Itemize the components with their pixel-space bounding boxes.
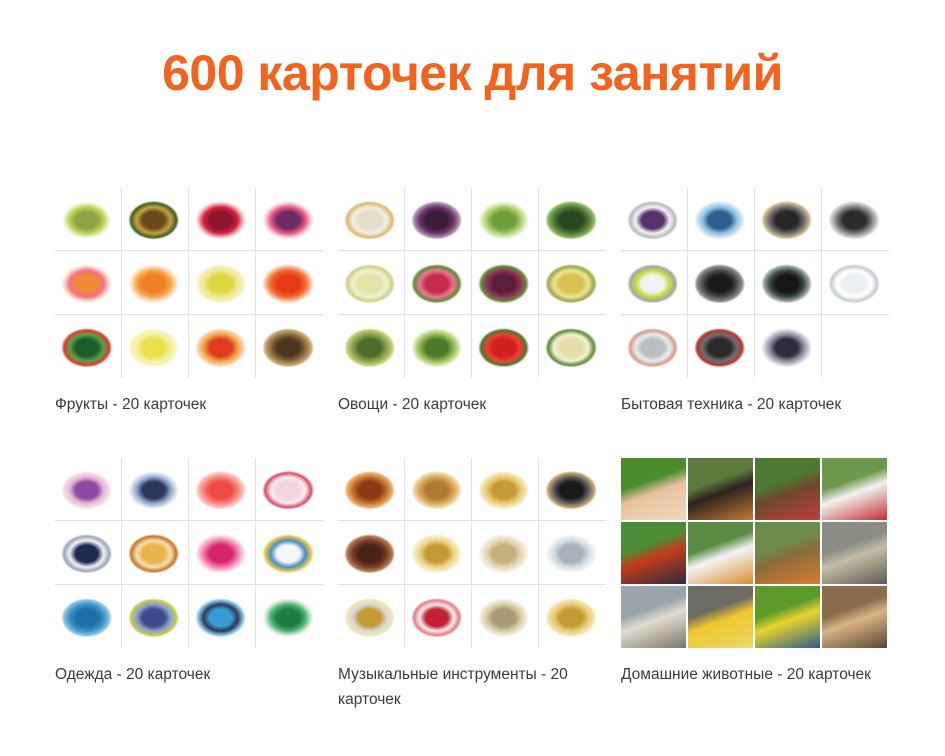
thumb-toaster xyxy=(822,315,889,378)
card-thumb[interactable] xyxy=(338,251,405,314)
thumb-tangerine xyxy=(122,251,188,313)
card-thumb[interactable] xyxy=(256,521,323,584)
card-thumb[interactable] xyxy=(822,188,889,251)
thumb-pomegranate xyxy=(189,188,255,250)
thumb-figs xyxy=(256,188,323,250)
card-thumb[interactable] xyxy=(405,188,472,251)
thumb-green-beans xyxy=(405,315,471,378)
thumb-beet xyxy=(472,251,538,313)
thumb-rabbit xyxy=(822,522,887,584)
thumb-shirt xyxy=(256,585,323,648)
card-thumb[interactable] xyxy=(338,458,405,521)
category-caption-fruits: Фрукты - 20 карточек xyxy=(55,392,305,417)
thumb-peas xyxy=(472,188,538,250)
category-caption-pets: Домашние животные - 20 карточек xyxy=(621,662,879,687)
card-thumb[interactable] xyxy=(256,315,323,378)
thumb-jacket xyxy=(189,521,255,583)
thumb-pineapple xyxy=(122,188,188,250)
thumb-electric-kettle xyxy=(688,188,754,250)
thumbnail-board-fruits xyxy=(55,188,323,378)
thumb-persimmon xyxy=(256,251,323,313)
thumb-sheep xyxy=(621,586,686,648)
thumb-watermelon xyxy=(55,315,121,378)
card-thumb[interactable] xyxy=(621,188,688,251)
thumb-radish xyxy=(405,251,471,313)
card-thumb[interactable] xyxy=(122,188,189,251)
card-thumb[interactable] xyxy=(405,458,472,521)
thumb-dishwasher xyxy=(621,315,687,378)
page-title: 600 карточек для занятий xyxy=(0,44,945,102)
thumb-rooster xyxy=(621,522,686,584)
thumb-kiwi xyxy=(55,188,121,250)
card-thumb[interactable] xyxy=(539,521,606,584)
card-thumb[interactable] xyxy=(405,315,472,378)
category-appliances: Бытовая техника - 20 карточек xyxy=(621,188,904,458)
card-thumb[interactable] xyxy=(405,251,472,314)
card-thumb[interactable] xyxy=(122,251,189,314)
card-thumb[interactable] xyxy=(688,522,753,584)
thumb-turnip xyxy=(539,251,606,313)
card-thumb[interactable] xyxy=(822,251,889,314)
thumb-mittens xyxy=(122,585,188,648)
thumb-hand-mixer xyxy=(621,251,687,313)
thumb-grapefruit xyxy=(55,251,121,313)
card-thumb[interactable] xyxy=(822,522,887,584)
thumb-duck xyxy=(755,522,820,584)
card-thumb[interactable] xyxy=(755,188,822,251)
card-thumb[interactable] xyxy=(822,315,889,378)
card-thumb[interactable] xyxy=(621,522,686,584)
thumb-canary xyxy=(688,586,753,648)
card-thumb[interactable] xyxy=(338,521,405,584)
card-thumb[interactable] xyxy=(472,585,539,648)
thumb-melon xyxy=(122,315,188,378)
card-thumb[interactable] xyxy=(189,315,256,378)
thumb-trombone xyxy=(338,585,404,648)
card-thumb[interactable] xyxy=(338,315,405,378)
card-thumb[interactable] xyxy=(256,585,323,648)
card-thumb[interactable] xyxy=(755,251,822,314)
thumb-hamster xyxy=(621,458,686,520)
thumb-meat-grinder xyxy=(822,188,889,250)
thumb-saxophone xyxy=(472,458,538,520)
thumbnail-board-appliances xyxy=(621,188,889,378)
thumb-eggplant xyxy=(405,188,471,250)
card-thumb[interactable] xyxy=(539,585,606,648)
thumbnail-board-pets xyxy=(621,458,887,648)
card-thumb[interactable] xyxy=(539,458,606,521)
thumb-turkey xyxy=(755,458,820,520)
card-thumb[interactable] xyxy=(621,315,688,378)
card-thumb[interactable] xyxy=(688,251,755,314)
thumb-drum xyxy=(405,585,471,648)
thumb-tights-red xyxy=(189,458,255,520)
thumb-goose xyxy=(688,522,753,584)
thumb-camcorder xyxy=(688,251,754,313)
card-thumb[interactable] xyxy=(472,251,539,314)
card-thumb[interactable] xyxy=(755,586,820,648)
thumb-vest xyxy=(55,521,121,583)
card-thumb[interactable] xyxy=(338,585,405,648)
category-caption-appliances: Бытовая техника - 20 карточек xyxy=(621,392,879,417)
card-thumb[interactable] xyxy=(405,521,472,584)
card-thumb[interactable] xyxy=(55,251,122,314)
category-instruments: Музыкальные инструменты - 20 карточек xyxy=(338,458,621,728)
thumb-tights-pink xyxy=(256,458,323,520)
thumb-camel xyxy=(822,586,887,648)
thumb-garlic xyxy=(338,188,404,250)
card-thumb[interactable] xyxy=(688,586,753,648)
card-thumb[interactable] xyxy=(755,458,820,520)
card-thumb[interactable] xyxy=(688,188,755,251)
thumb-upright-piano xyxy=(338,521,404,583)
category-caption-clothing: Одежда - 20 карточек xyxy=(55,662,305,687)
card-thumb[interactable] xyxy=(472,188,539,251)
card-thumb[interactable] xyxy=(405,585,472,648)
category-grid: Фрукты - 20 карточек Овощи - 20 карточек xyxy=(0,188,945,728)
card-thumb[interactable] xyxy=(472,521,539,584)
card-thumb[interactable] xyxy=(256,251,323,314)
category-fruits: Фрукты - 20 карточек xyxy=(55,188,338,458)
thumb-chicken xyxy=(822,458,887,520)
thumb-squash xyxy=(338,251,404,313)
category-caption-vegetables: Овощи - 20 карточек xyxy=(338,392,588,417)
category-caption-instruments: Музыкальные инструменты - 20 карточек xyxy=(338,662,596,712)
thumb-flute xyxy=(472,521,538,583)
thumb-trumpet xyxy=(405,521,471,583)
card-thumb[interactable] xyxy=(472,315,539,378)
card-thumb[interactable] xyxy=(621,586,686,648)
thumbnail-board-instruments xyxy=(338,458,606,648)
thumb-shorts xyxy=(122,521,188,583)
card-thumb[interactable] xyxy=(621,458,686,520)
card-thumb[interactable] xyxy=(539,251,606,314)
card-thumb[interactable] xyxy=(189,585,256,648)
card-thumb[interactable] xyxy=(55,585,122,648)
card-thumb[interactable] xyxy=(822,458,887,520)
card-thumb[interactable] xyxy=(621,251,688,314)
card-thumb[interactable] xyxy=(256,458,323,521)
card-thumb[interactable] xyxy=(755,315,822,378)
thumb-dates xyxy=(256,315,323,378)
thumb-coffee-machine xyxy=(688,315,754,378)
thumb-chili-pepper xyxy=(472,315,538,378)
thumb-guinea-pig xyxy=(688,458,753,520)
thumb-nectarine xyxy=(189,315,255,378)
card-thumb[interactable] xyxy=(122,585,189,648)
thumb-skirt xyxy=(55,458,121,520)
thumb-french-horn xyxy=(539,585,606,648)
thumb-cauliflower xyxy=(539,315,606,378)
thumbnail-board-vegetables xyxy=(338,188,606,378)
card-thumb[interactable] xyxy=(189,188,256,251)
thumb-parakeet xyxy=(755,586,820,648)
thumb-triangle xyxy=(539,521,606,583)
card-thumb[interactable] xyxy=(55,521,122,584)
card-thumb[interactable] xyxy=(338,188,405,251)
card-thumb[interactable] xyxy=(472,458,539,521)
card-thumb[interactable] xyxy=(55,458,122,521)
card-thumb[interactable] xyxy=(189,251,256,314)
category-clothing: Одежда - 20 карточек xyxy=(55,458,338,728)
card-thumb[interactable] xyxy=(189,521,256,584)
card-thumb[interactable] xyxy=(539,188,606,251)
card-thumb[interactable] xyxy=(122,315,189,378)
thumb-immersion-blender xyxy=(755,315,821,378)
card-thumb[interactable] xyxy=(688,458,753,520)
thumb-snowsuit xyxy=(189,585,255,648)
thumb-hairdryer xyxy=(621,188,687,250)
thumb-t-shirt xyxy=(55,585,121,648)
card-thumb[interactable] xyxy=(256,188,323,251)
thumb-harp xyxy=(405,458,471,520)
card-thumb[interactable] xyxy=(189,458,256,521)
thumb-dslr-camera xyxy=(755,251,821,313)
category-vegetables: Овощи - 20 карточек xyxy=(338,188,621,458)
thumb-cymbals xyxy=(472,585,538,648)
thumb-violin xyxy=(338,458,404,520)
thumb-quince xyxy=(189,251,255,313)
card-thumb[interactable] xyxy=(122,458,189,521)
thumb-grand-piano xyxy=(539,458,606,520)
card-thumb[interactable] xyxy=(755,522,820,584)
thumb-socks xyxy=(122,458,188,520)
thumb-green-radish xyxy=(338,315,404,378)
card-thumb[interactable] xyxy=(55,315,122,378)
thumb-juicer xyxy=(755,188,821,250)
category-pets: Домашние животные - 20 карточек xyxy=(621,458,904,728)
card-thumb[interactable] xyxy=(539,315,606,378)
thumb-air-conditioner xyxy=(822,251,889,313)
card-thumb[interactable] xyxy=(688,315,755,378)
thumb-broccoli xyxy=(539,188,606,250)
thumbnail-board-clothing xyxy=(55,458,323,648)
card-thumb[interactable] xyxy=(55,188,122,251)
thumb-pajamas xyxy=(256,521,323,583)
card-thumb[interactable] xyxy=(822,586,887,648)
card-thumb[interactable] xyxy=(122,521,189,584)
